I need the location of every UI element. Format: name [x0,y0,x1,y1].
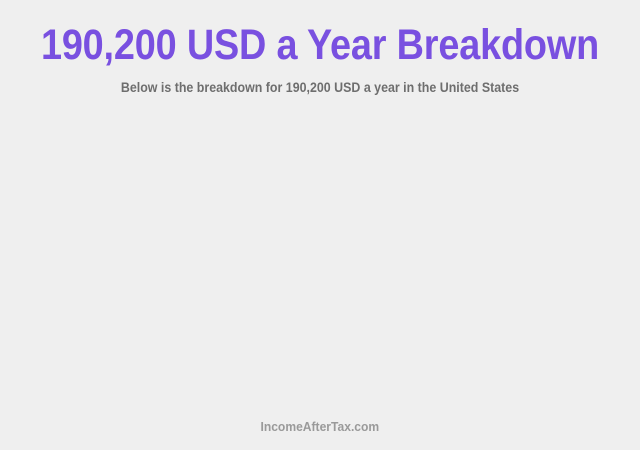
page-title: 190,200 USD a Year Breakdown [38,22,601,68]
site-brand-label: IncomeAfterTax.com [261,419,380,434]
page-subtitle: Below is the breakdown for 190,200 USD a… [26,68,615,96]
page-footer: IncomeAfterTax.com [0,418,640,450]
page-header: 190,200 USD a Year Breakdown Below is th… [0,0,640,96]
chart-area [0,96,640,418]
page-root: 190,200 USD a Year Breakdown Below is th… [0,0,640,450]
